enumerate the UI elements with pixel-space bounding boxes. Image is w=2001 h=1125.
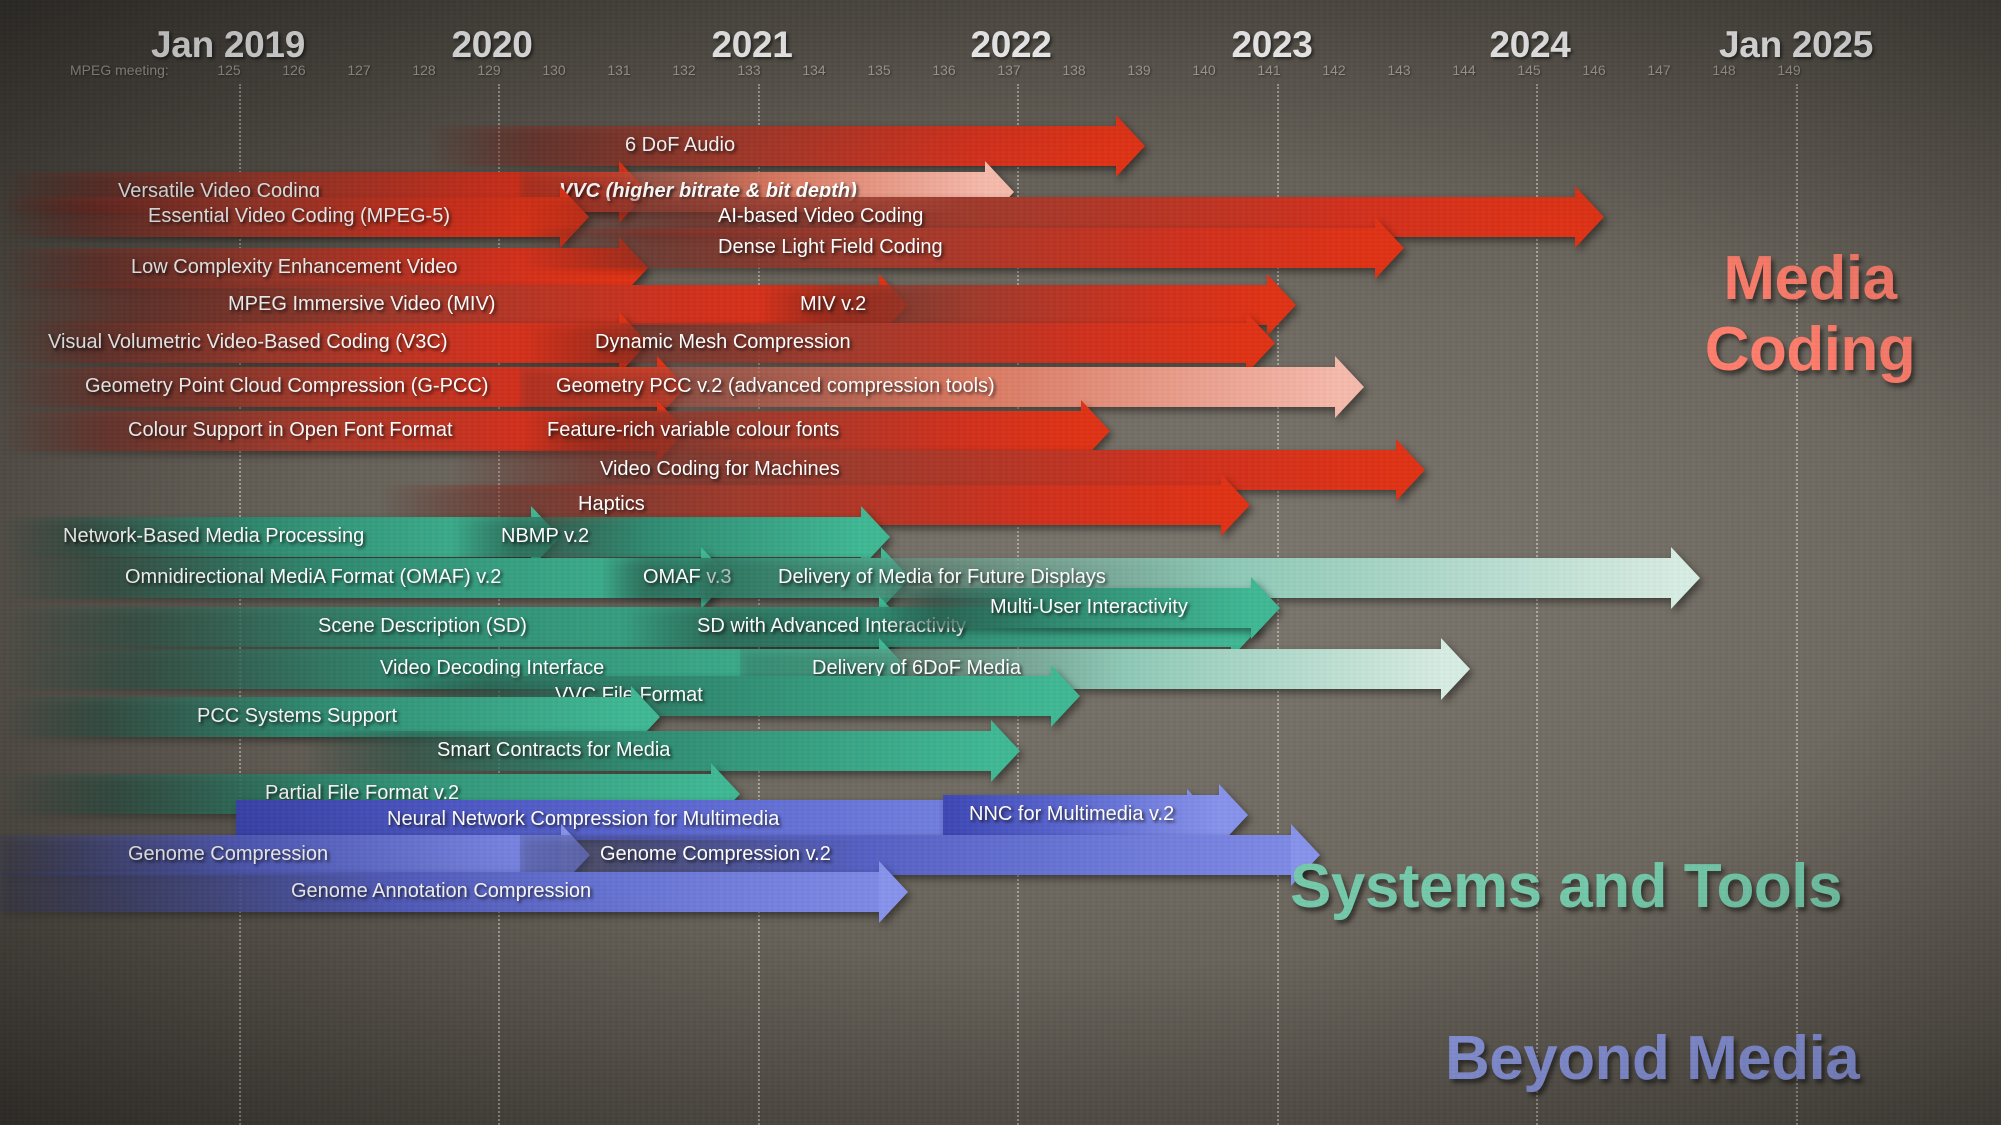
arrow-label: Multi-User Interactivity — [990, 597, 1188, 617]
arrow-head-icon — [1251, 577, 1280, 639]
arrow-label: Dynamic Mesh Compression — [595, 332, 851, 352]
timeline-arrow[interactable]: Dynamic Mesh Compression — [520, 323, 1275, 363]
meeting-number: 139 — [1127, 62, 1150, 78]
meeting-number: 132 — [672, 62, 695, 78]
section-title-beyond-media: Beyond Media — [1445, 1027, 1859, 1090]
year-label: 2024 — [1489, 24, 1570, 66]
arrow-label: Geometry PCC v.2 (advanced compression t… — [556, 376, 995, 396]
arrow-label: NNC for Multimedia v.2 — [969, 804, 1174, 824]
arrow-head-icon — [1116, 115, 1145, 177]
arrow-head-icon — [1246, 312, 1275, 374]
arrow-label: Haptics — [578, 494, 645, 514]
arrow-label: Low Complexity Enhancement Video — [131, 257, 457, 277]
arrow-head-icon — [1575, 186, 1604, 248]
gridline-5 — [1536, 84, 1538, 1125]
meeting-number: 149 — [1777, 62, 1800, 78]
arrow-label: Essential Video Coding (MPEG-5) — [148, 206, 450, 226]
meeting-number: 128 — [412, 62, 435, 78]
arrow-label: Feature-rich variable colour fonts — [547, 420, 839, 440]
arrow-head-icon — [1441, 638, 1470, 700]
arrow-label: Visual Volumetric Video-Based Coding (V3… — [48, 332, 447, 352]
meeting-number: 137 — [997, 62, 1020, 78]
arrow-label: 6 DoF Audio — [625, 135, 735, 155]
timeline-arrow[interactable]: Multi-User Interactivity — [880, 588, 1280, 628]
section-title-coding: Coding — [1705, 318, 1916, 381]
meeting-number: 133 — [737, 62, 760, 78]
arrow-label: Scene Description (SD) — [318, 616, 527, 636]
meeting-number: 146 — [1582, 62, 1605, 78]
meeting-number: 125 — [217, 62, 240, 78]
section-title-systems-and-tools: Systems and Tools — [1290, 855, 1842, 918]
meeting-number: 140 — [1192, 62, 1215, 78]
arrow-label: PCC Systems Support — [197, 706, 397, 726]
arrow-label: Video Decoding Interface — [380, 658, 604, 678]
timeline-arrow[interactable]: 6 DoF Audio — [425, 126, 1145, 166]
meeting-number: 144 — [1452, 62, 1475, 78]
year-label: 2022 — [970, 24, 1051, 66]
timeline-arrow[interactable]: Genome Compression v.2 — [520, 835, 1320, 875]
arrow-label: Genome Compression — [128, 844, 328, 864]
year-label: Jan 2019 — [151, 24, 305, 66]
meeting-number: 135 — [867, 62, 890, 78]
timeline-arrow[interactable]: Genome Annotation Compression — [0, 872, 908, 912]
year-label: 2020 — [451, 24, 532, 66]
arrow-label: Geometry Point Cloud Compression (G-PCC) — [85, 376, 488, 396]
arrow-label: Delivery of 6DoF Media — [812, 658, 1021, 678]
timeline-arrow[interactable]: Video Coding for Machines — [450, 450, 1425, 490]
timeline-arrow[interactable]: Essential Video Coding (MPEG-5) — [0, 197, 589, 237]
arrow-label: Network-Based Media Processing — [63, 526, 364, 546]
arrow-head-icon — [1335, 356, 1364, 418]
arrow-label: Smart Contracts for Media — [437, 740, 670, 760]
arrow-label: Genome Compression v.2 — [600, 844, 831, 864]
arrow-head-icon — [879, 861, 908, 923]
meeting-number: 134 — [802, 62, 825, 78]
arrow-label: AI-based Video Coding — [718, 206, 923, 226]
arrow-body — [425, 126, 1116, 166]
meeting-number: 126 — [282, 62, 305, 78]
timeline-arrow[interactable]: NBMP v.2 — [450, 517, 890, 557]
mpeg-roadmap-timeline: Jan 201920202021202220232024Jan 2025 MPE… — [0, 0, 2001, 1125]
meeting-number: 148 — [1712, 62, 1735, 78]
arrow-head-icon — [1671, 547, 1700, 609]
arrow-label: MIV v.2 — [800, 294, 866, 314]
mpeg-meeting-caption: MPEG meeting: — [70, 62, 169, 78]
meeting-number: 141 — [1257, 62, 1280, 78]
arrow-label: MPEG Immersive Video (MIV) — [228, 294, 495, 314]
arrow-label: NBMP v.2 — [501, 526, 589, 546]
year-label: 2021 — [711, 24, 792, 66]
timeline-arrow[interactable]: Dense Light Field Coding — [520, 228, 1404, 268]
arrow-head-icon — [1396, 439, 1425, 501]
arrow-body — [450, 450, 1396, 490]
year-label: Jan 2025 — [1719, 24, 1873, 66]
arrow-label: Video Coding for Machines — [600, 459, 840, 479]
timeline-arrow[interactable]: Geometry PCC v.2 (advanced compression t… — [520, 367, 1364, 407]
arrow-label: Genome Annotation Compression — [291, 881, 591, 901]
section-title-media: Media — [1723, 247, 1896, 310]
timeline-arrow[interactable]: Genome Compression — [0, 835, 590, 875]
meeting-number: 147 — [1647, 62, 1670, 78]
arrow-label: Omnidirectional MediA Format (OMAF) v.2 — [125, 567, 501, 587]
arrow-head-icon — [1051, 665, 1080, 727]
arrow-head-icon — [991, 720, 1020, 782]
gridline-1 — [498, 84, 500, 1125]
meeting-number: 142 — [1322, 62, 1345, 78]
timeline-arrow[interactable]: Feature-rich variable colour fonts — [520, 411, 1110, 451]
timeline-arrow[interactable]: Smart Contracts for Media — [300, 731, 1020, 771]
gridline-0 — [239, 84, 241, 1125]
year-label: 2023 — [1231, 24, 1312, 66]
arrow-label: Delivery of Media for Future Displays — [778, 567, 1106, 587]
arrow-label: Colour Support in Open Font Format — [128, 420, 453, 440]
meeting-number: 136 — [932, 62, 955, 78]
meeting-number: 145 — [1517, 62, 1540, 78]
meeting-number: 127 — [347, 62, 370, 78]
arrow-head-icon — [1221, 474, 1250, 536]
meeting-number: 131 — [607, 62, 630, 78]
arrow-body — [520, 228, 1375, 268]
arrow-head-icon — [1375, 217, 1404, 279]
gridline-6 — [1796, 84, 1798, 1125]
timeline-arrow[interactable]: NNC for Multimedia v.2 — [943, 795, 1248, 835]
timeline-arrow[interactable]: MIV v.2 — [758, 285, 1296, 325]
arrow-label: Dense Light Field Coding — [718, 237, 943, 257]
meeting-number: 130 — [542, 62, 565, 78]
meeting-number: 143 — [1387, 62, 1410, 78]
meeting-number: 129 — [477, 62, 500, 78]
meeting-number: 138 — [1062, 62, 1085, 78]
